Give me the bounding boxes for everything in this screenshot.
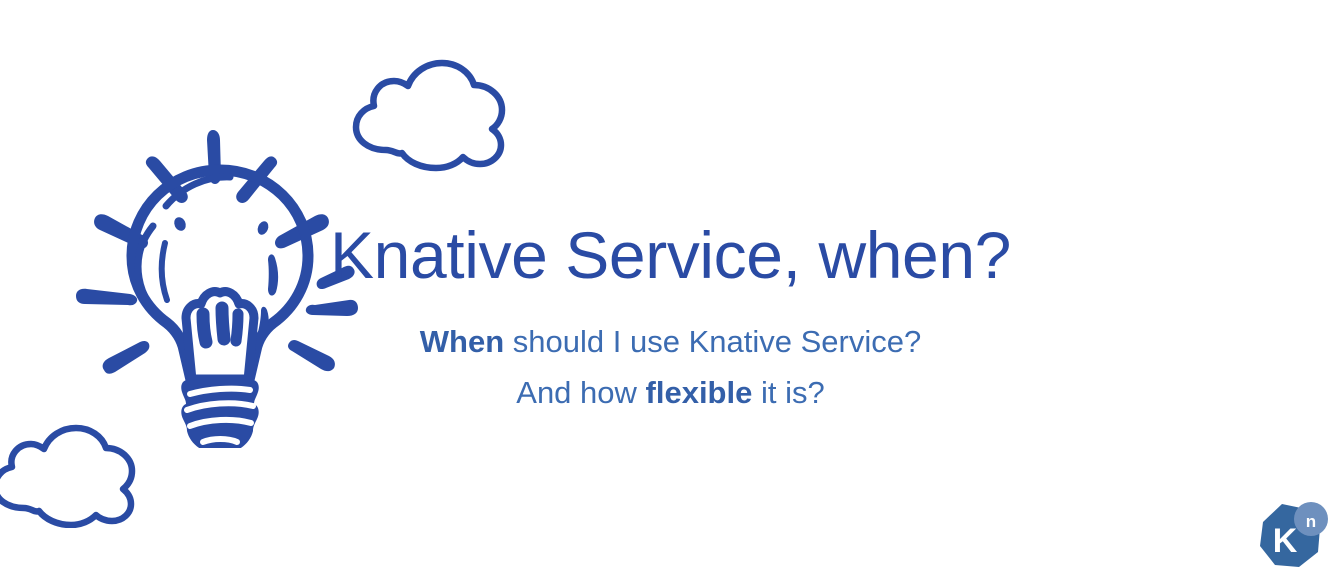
subtitle-line-1-rest: should I use Knative Service? [504,324,921,359]
subtitle: When should I use Knative Service? And h… [0,288,1341,419]
slide-canvas: Knative Service, when? When should I use… [0,0,1341,585]
subtitle-line-1: When should I use Knative Service? [0,316,1341,367]
page-title: Knative Service, when? [0,222,1341,288]
subtitle-line-1-strong: When [420,324,504,359]
slide-text-block: Knative Service, when? When should I use… [0,222,1341,419]
cloud-icon [342,52,517,172]
knative-letter-k: K [1273,522,1298,560]
subtitle-line-2-rest: it is? [752,375,824,410]
subtitle-line-2-lead: And how [516,375,645,410]
knative-logo: K n [1249,500,1335,582]
subtitle-line-2: And how flexible it is? [0,367,1341,418]
subtitle-line-2-strong: flexible [646,375,753,410]
cloud-icon [0,418,147,528]
knative-letter-n: n [1306,512,1316,531]
